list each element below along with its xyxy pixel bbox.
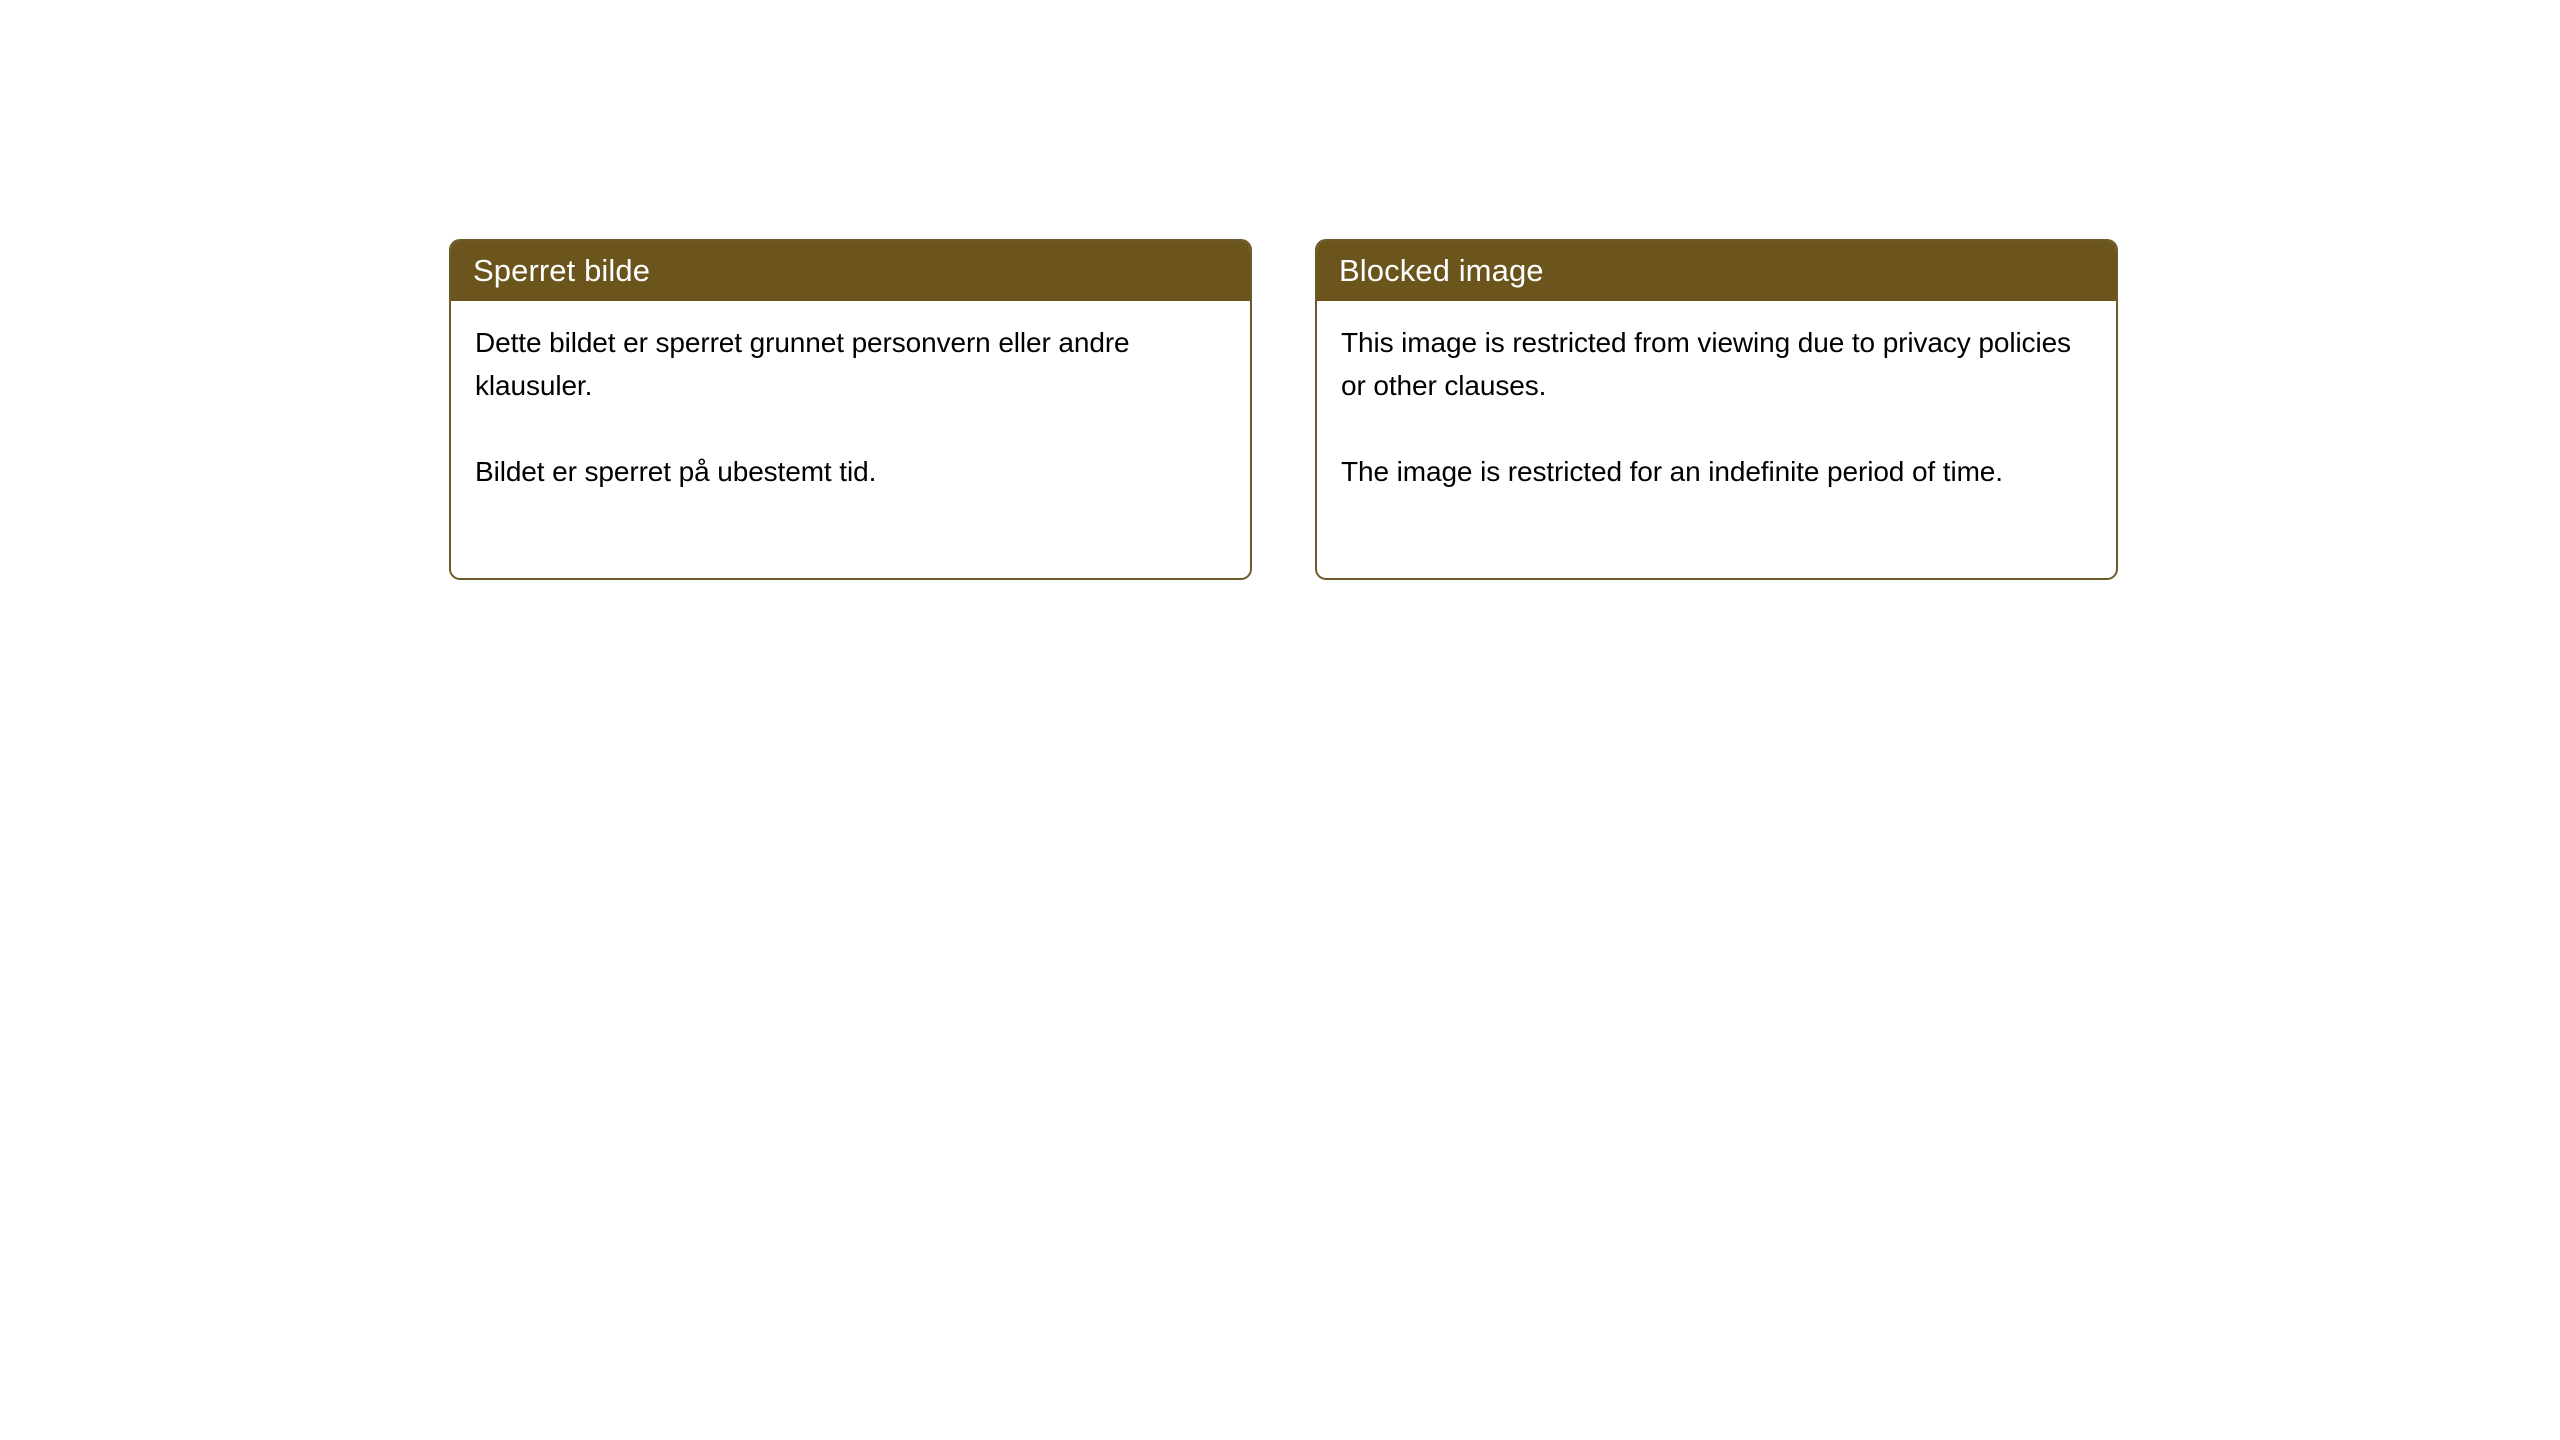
- card-body-norwegian: Dette bildet er sperret grunnet personve…: [451, 301, 1250, 493]
- card-paragraph-primary-norwegian: Dette bildet er sperret grunnet personve…: [475, 321, 1228, 407]
- card-header-english: Blocked image: [1315, 239, 2118, 301]
- blocked-image-notice-card-english: Blocked image This image is restricted f…: [1315, 239, 2118, 580]
- card-paragraph-secondary-english: The image is restricted for an indefinit…: [1341, 450, 2094, 493]
- blocked-image-notice-card-norwegian: Sperret bilde Dette bildet er sperret gr…: [449, 239, 1252, 580]
- card-title-english: Blocked image: [1339, 255, 1544, 286]
- paragraph-spacer-norwegian: [475, 407, 1228, 450]
- card-header-norwegian: Sperret bilde: [449, 239, 1252, 301]
- card-title-norwegian: Sperret bilde: [473, 255, 650, 286]
- card-paragraph-primary-english: This image is restricted from viewing du…: [1341, 321, 2094, 407]
- card-body-english: This image is restricted from viewing du…: [1317, 301, 2116, 493]
- card-paragraph-secondary-norwegian: Bildet er sperret på ubestemt tid.: [475, 450, 1228, 493]
- paragraph-spacer-english: [1341, 407, 2094, 450]
- page-canvas: Sperret bilde Dette bildet er sperret gr…: [0, 0, 2560, 1440]
